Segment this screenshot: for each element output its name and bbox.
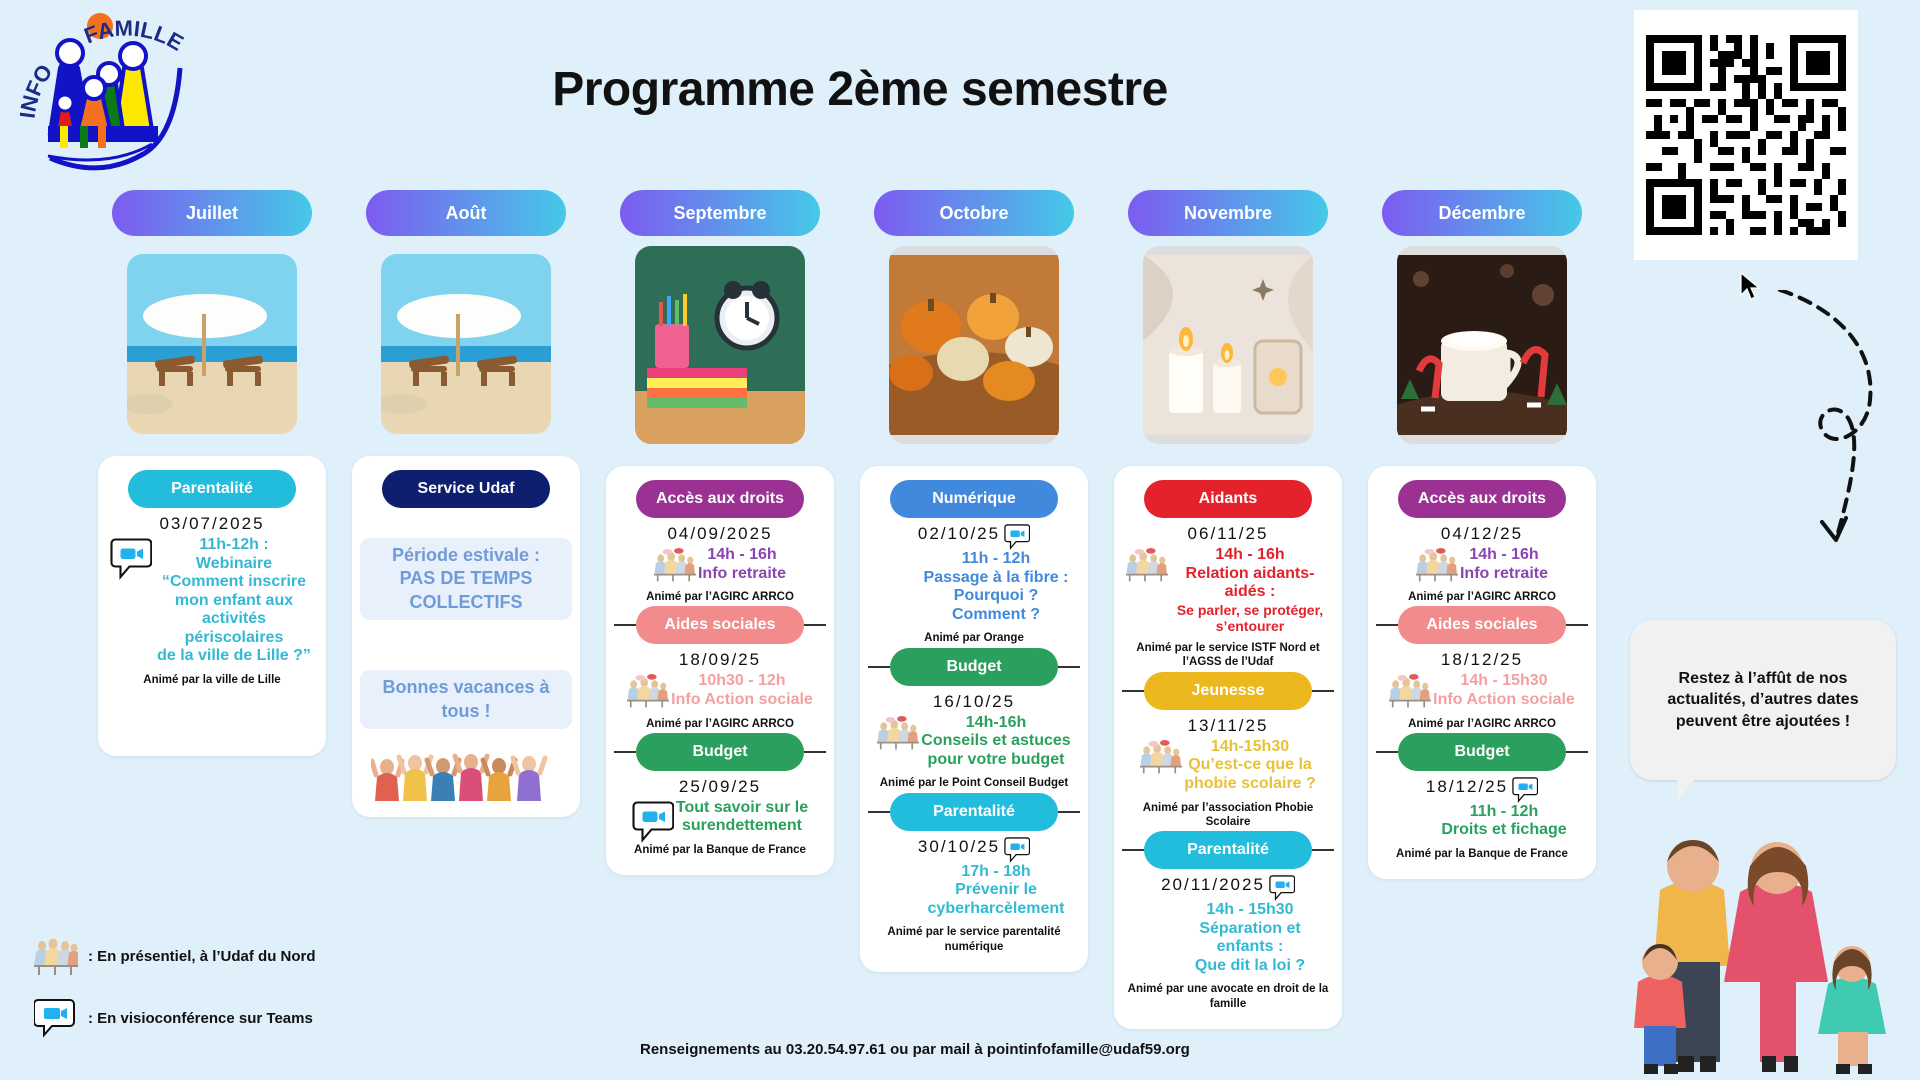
event-tag-row: Service Udaf: [360, 470, 572, 508]
month-pill[interactable]: Octobre: [874, 190, 1074, 236]
people-icon: [1389, 674, 1431, 708]
month-photo-beach-umbrella-deckchairs: [381, 254, 551, 434]
event-block: 18/12/25 11h - 12h Droits et fichage Ani…: [1376, 771, 1588, 863]
event-host: Animé par le Point Conseil Budget: [872, 776, 1076, 790]
event-date: 02/10/25: [918, 524, 1000, 544]
event-title-line: mon enfant aux: [175, 592, 293, 609]
legend-item-visio: : En visioconférence sur Teams: [34, 998, 494, 1038]
callout-bubble: Restez à l’affût de nos actualités, d’au…: [1630, 620, 1896, 780]
event-time: 14h - 15h30: [1206, 901, 1293, 918]
event-title-line: pour votre budget: [928, 751, 1065, 768]
event-time: 14h - 16h: [1215, 546, 1284, 563]
legend-item-presentiel: : En présentiel, à l’Udaf du Nord: [34, 936, 494, 976]
event-title-line: phobie scolaire ?: [1184, 775, 1316, 792]
event-title-line: activités périscolaires: [185, 610, 284, 646]
month-card: Aidants 06/11/25 14h - 16h Relation aida…: [1114, 466, 1342, 1029]
event-body: 14h - 15h30 Info Action sociale: [1380, 672, 1584, 709]
month-card: Service Udaf Période estivale :PAS DE TE…: [352, 456, 580, 817]
month-column-novembre: Novembre Aidants 06/11/25: [1114, 190, 1342, 1029]
event-title: 14h - 15h30 Info Action sociale: [1433, 672, 1575, 709]
event-tag[interactable]: Budget: [890, 648, 1058, 686]
month-photo-pumpkins-basket: [889, 246, 1059, 444]
event-tag[interactable]: Numérique: [890, 480, 1058, 518]
footer-contact: Renseignements au 03.20.54.97.61 ou par …: [640, 1041, 1190, 1058]
month-pill[interactable]: Juillet: [112, 190, 312, 236]
event-date: 13/11/25: [1188, 716, 1269, 736]
event-title-line: Info retraite: [1460, 565, 1548, 582]
event-title-line: Qu’est-ce que la: [1188, 756, 1312, 773]
event-host: Animé par l’association Phobie Scolaire: [1126, 801, 1330, 830]
event-tag-row: Parentalité: [868, 793, 1080, 831]
event-title-line: Relation aidants-aidés :: [1186, 565, 1315, 601]
raised-hands-illustration: [371, 743, 561, 801]
month-photo-beach-umbrella-deckchairs: [127, 254, 297, 434]
event-tag[interactable]: Budget: [636, 733, 804, 771]
event-title-line: Séparation et enfants :: [1199, 920, 1300, 956]
event-host: Animé par l’AGIRC ARRCO: [618, 590, 822, 604]
people-icon: [1416, 548, 1458, 582]
event-host: Animé par la Banque de France: [1380, 847, 1584, 861]
event-block: 20/11/2025 14h - 15h30 Séparation et enf…: [1122, 869, 1334, 1013]
month-note: Bonnes vacances à tous !: [360, 670, 572, 729]
month-pill[interactable]: Novembre: [1128, 190, 1328, 236]
event-date: 30/10/25: [918, 837, 1000, 857]
event-block: 02/10/25 11h - 12h Passage à la fibre :P…: [868, 518, 1080, 648]
event-body: 14h-15h30 Qu’est-ce que laphobie scolair…: [1126, 738, 1330, 794]
event-host: Animé par Orange: [872, 631, 1076, 645]
event-date: 04/09/2025: [667, 524, 772, 544]
event-time: 17h - 18h: [961, 863, 1030, 880]
event-date-row: 18/12/25: [1380, 650, 1584, 672]
event-date-row: 16/10/25: [872, 692, 1076, 714]
event-tag-row: Aides sociales: [1376, 606, 1588, 644]
month-photo-cocoa-christmas: [1397, 246, 1567, 444]
event-block: 04/12/25 14h - 16h Info retraite Animé p…: [1376, 518, 1588, 606]
event-date: 18/12/25: [1441, 650, 1523, 670]
event-title-line: Webinaire: [196, 555, 272, 572]
event-title: 14h - 16h Info retraite: [1460, 546, 1548, 583]
event-time: 10h30 - 12h: [698, 672, 785, 689]
video-camera-icon: [884, 865, 926, 899]
event-title-line: Tout savoir sur le: [676, 799, 808, 816]
qr-code[interactable]: [1634, 10, 1858, 260]
event-body: 14h-16h Conseils et astucespour votre bu…: [872, 714, 1076, 770]
video-camera-icon: [110, 538, 152, 572]
video-camera-icon: [1269, 875, 1295, 901]
month-columns: Juillet Parentalité 03/07/2025 11h-12h: [98, 190, 1608, 1029]
event-body: Tout savoir sur lesurendettement: [618, 799, 822, 836]
event-title: 14h - 16h Relation aidants-aidés :Se par…: [1170, 546, 1330, 634]
event-date: 04/12/25: [1441, 524, 1523, 544]
people-icon: [877, 716, 919, 750]
month-pill[interactable]: Décembre: [1382, 190, 1582, 236]
month-card: Accès aux droits 04/12/25 14h - 16h Info…: [1368, 466, 1596, 879]
event-tag[interactable]: Aides sociales: [636, 606, 804, 644]
event-host: Animé par l’AGIRC ARRCO: [1380, 717, 1584, 731]
event-tag-row: Parentalité: [1122, 831, 1334, 869]
event-body: 14h - 16h Info retraite: [1380, 546, 1584, 583]
event-title: Tout savoir sur lesurendettement: [676, 799, 808, 836]
month-pill[interactable]: Août: [366, 190, 566, 236]
event-host: Animé par le service ISTF Nord et l’AGSS…: [1126, 641, 1330, 670]
event-tag[interactable]: Parentalité: [1144, 831, 1312, 869]
event-title-line: de la ville de Lille ?”: [157, 647, 311, 664]
event-block: 04/09/2025 14h - 16h Info retraite Animé…: [614, 518, 826, 606]
video-camera-icon: [34, 998, 78, 1038]
event-date-row: 04/09/2025: [618, 524, 822, 546]
legend-item-label: : En présentiel, à l’Udaf du Nord: [88, 948, 316, 965]
event-title-line: surendettement: [682, 817, 802, 834]
month-card: Accès aux droits 04/09/2025 14h - 16h In…: [606, 466, 834, 875]
event-tag[interactable]: Jeunesse: [1144, 672, 1312, 710]
poster-root: INFO FAMILLE Pr: [0, 0, 1920, 1080]
event-block: 30/10/25 17h - 18h Prévenir lecyberharcè…: [868, 831, 1080, 956]
event-date: 25/09/25: [679, 777, 761, 797]
event-tag[interactable]: Accès aux droits: [1398, 480, 1566, 518]
event-title: 10h30 - 12h Info Action sociale: [671, 672, 813, 709]
event-title-line: Info retraite: [698, 565, 786, 582]
event-block: 25/09/25 Tout savoir sur lesurendettemen…: [614, 771, 826, 859]
event-host: Animé par l’AGIRC ARRCO: [618, 717, 822, 731]
event-title-line: Passage à la fibre :: [924, 569, 1069, 586]
legend: : En présentiel, à l’Udaf du Nord : En v…: [34, 936, 494, 1060]
month-note: Période estivale :PAS DE TEMPS COLLECTIF…: [360, 538, 572, 620]
event-time: 14h-15h30: [1211, 738, 1289, 755]
event-body: 17h - 18h Prévenir lecyberharcèlement: [872, 863, 1076, 919]
event-block: 18/12/25 14h - 15h30 Info Action sociale…: [1376, 644, 1588, 732]
event-host: Animé par la Banque de France: [618, 843, 822, 857]
event-title-line: Info Action sociale: [671, 691, 813, 708]
event-date: 03/07/2025: [159, 514, 264, 534]
event-time: 14h - 16h: [707, 546, 776, 563]
event-tag-row: Accès aux droits: [614, 480, 826, 518]
event-time: 11h - 12h: [962, 550, 1030, 567]
event-body: 14h - 16h Info retraite: [618, 546, 822, 583]
event-tag[interactable]: Accès aux droits: [636, 480, 804, 518]
event-title-line: Prévenir le: [955, 881, 1037, 898]
event-title: 11h - 12h Passage à la fibre :Pourquoi ?…: [916, 550, 1076, 624]
event-date-row: 04/12/25: [1380, 524, 1584, 546]
month-photo-school-supplies-clock: [635, 246, 805, 444]
event-time: 11h-12h :: [199, 536, 268, 553]
callout-text: Restez à l’affût de nos actualités, d’au…: [1646, 668, 1880, 733]
people-icon: [627, 674, 669, 708]
event-tag[interactable]: Aidants: [1144, 480, 1312, 518]
event-host: Animé par le service parentalité numériq…: [872, 925, 1076, 954]
video-camera-icon: [1004, 837, 1030, 863]
event-tag-row: Jeunesse: [1122, 672, 1334, 710]
event-tag[interactable]: Budget: [1398, 733, 1566, 771]
people-icon: [654, 548, 696, 582]
month-column-août: Août Service Udaf Période estivale :PAS …: [352, 190, 580, 1029]
video-camera-icon: [1004, 524, 1030, 550]
event-title-line: Se parler, se protéger, s’entourer: [1170, 602, 1330, 634]
event-title-line: Droits et fichage: [1441, 821, 1566, 838]
event-title-line: “Comment inscrire: [162, 573, 306, 590]
event-tag[interactable]: Parentalité: [128, 470, 296, 508]
event-date-row: 18/09/25: [618, 650, 822, 672]
event-date-row: 30/10/25: [872, 837, 1076, 863]
event-time: 14h - 16h: [1469, 546, 1538, 563]
event-tag-row: Parentalité: [106, 470, 318, 508]
event-body: 11h-12h : Webinaire“Comment inscriremon …: [110, 536, 314, 666]
event-title: 14h - 15h30 Séparation et enfants :Que d…: [1170, 901, 1330, 975]
event-title-line: Pourquoi ? Comment ?: [952, 587, 1040, 623]
month-card: Parentalité 03/07/2025 11h-12h : Webinai…: [98, 456, 326, 756]
event-tag-row: Aides sociales: [614, 606, 826, 644]
event-title: 11h-12h : Webinaire“Comment inscriremon …: [154, 536, 314, 666]
page-title: Programme 2ème semestre: [420, 62, 1300, 117]
event-title: 14h-15h30 Qu’est-ce que laphobie scolair…: [1184, 738, 1316, 794]
event-body: 11h - 12h Passage à la fibre :Pourquoi ?…: [872, 550, 1076, 624]
event-title-line: Que dit la loi ?: [1195, 957, 1305, 974]
event-time: 14h - 15h30: [1460, 672, 1547, 689]
month-card: Numérique 02/10/25 11h - 12h Passage à l…: [860, 466, 1088, 972]
event-time: 14h-16h: [966, 714, 1026, 731]
event-block: 16/10/25 14h-16h Conseils et astucespour…: [868, 686, 1080, 793]
event-date-row: 20/11/2025: [1126, 875, 1330, 901]
event-title: 17h - 18h Prévenir lecyberharcèlement: [928, 863, 1065, 919]
event-tag-row: Aidants: [1122, 480, 1334, 518]
people-icon: [1126, 548, 1168, 582]
event-block: 13/11/25 14h-15h30 Qu’est-ce que laphobi…: [1122, 710, 1334, 831]
event-title: 14h-16h Conseils et astucespour votre bu…: [921, 714, 1070, 770]
event-date-row: 02/10/25: [872, 524, 1076, 550]
month-column-juillet: Juillet Parentalité 03/07/2025 11h-12h: [98, 190, 326, 1029]
month-photo-candles-cosy: [1143, 246, 1313, 444]
event-block: 06/11/25 14h - 16h Relation aidants-aidé…: [1122, 518, 1334, 672]
dashed-arrow-icon: [1770, 290, 1890, 580]
event-date-row: 13/11/25: [1126, 716, 1330, 738]
people-icon: [1140, 740, 1182, 774]
event-date-row: 18/12/25: [1380, 777, 1584, 803]
event-date: 16/10/25: [933, 692, 1015, 712]
video-camera-icon: [1126, 903, 1168, 937]
event-date-row: 25/09/25: [618, 777, 822, 799]
video-camera-icon: [632, 801, 674, 835]
event-tag-row: Accès aux droits: [1376, 480, 1588, 518]
event-host: Animé par la ville de Lille: [110, 673, 314, 687]
video-camera-icon: [1397, 805, 1439, 839]
event-block: 03/07/2025 11h-12h : Webinaire“Comment i…: [106, 508, 318, 689]
event-body: 10h30 - 12h Info Action sociale: [618, 672, 822, 709]
info-famille-logo: INFO FAMILLE: [20, 8, 230, 178]
event-tag[interactable]: Parentalité: [890, 793, 1058, 831]
event-body: 14h - 16h Relation aidants-aidés :Se par…: [1126, 546, 1330, 634]
month-column-décembre: Décembre Accès aux droits 04/12/25: [1368, 190, 1596, 1029]
event-tag-row: Numérique: [868, 480, 1080, 518]
month-pill[interactable]: Septembre: [620, 190, 820, 236]
event-date: 20/11/2025: [1161, 875, 1265, 895]
event-date: 18/09/25: [679, 650, 761, 670]
event-date-row: 06/11/25: [1126, 524, 1330, 546]
event-title-line: cyberharcèlement: [928, 900, 1065, 917]
event-time: 11h - 12h: [1470, 803, 1538, 820]
event-title-line: Info Action sociale: [1433, 691, 1575, 708]
event-date: 06/11/25: [1188, 524, 1269, 544]
event-host: Animé par une avocate en droit de la fam…: [1126, 982, 1330, 1011]
family-illustration: [1620, 770, 1920, 1080]
event-tag[interactable]: Service Udaf: [382, 470, 550, 508]
event-tag-row: Budget: [868, 648, 1080, 686]
legend-item-label: : En visioconférence sur Teams: [88, 1010, 313, 1027]
event-title: 14h - 16h Info retraite: [698, 546, 786, 583]
event-title-line: Conseils et astuces: [921, 732, 1070, 749]
video-camera-icon: [1512, 777, 1538, 803]
event-tag-row: Budget: [614, 733, 826, 771]
event-host: Animé par l’AGIRC ARRCO: [1380, 590, 1584, 604]
event-date: 18/12/25: [1426, 777, 1508, 797]
mouse-cursor-icon: [1740, 272, 1762, 302]
event-title: 11h - 12h Droits et fichage: [1441, 803, 1566, 840]
month-column-septembre: Septembre Accès aux droits 04/09/2025: [606, 190, 834, 1029]
event-block: 18/09/25 10h30 - 12h Info Action sociale…: [614, 644, 826, 732]
video-camera-icon: [872, 552, 914, 586]
event-body: 14h - 15h30 Séparation et enfants :Que d…: [1126, 901, 1330, 975]
people-icon: [34, 936, 78, 976]
event-tag[interactable]: Aides sociales: [1398, 606, 1566, 644]
event-tag-row: Budget: [1376, 733, 1588, 771]
event-body: 11h - 12h Droits et fichage: [1380, 803, 1584, 840]
month-column-octobre: Octobre Numérique 02/10/25 11h - 12h: [860, 190, 1088, 1029]
event-date-row: 03/07/2025: [110, 514, 314, 536]
